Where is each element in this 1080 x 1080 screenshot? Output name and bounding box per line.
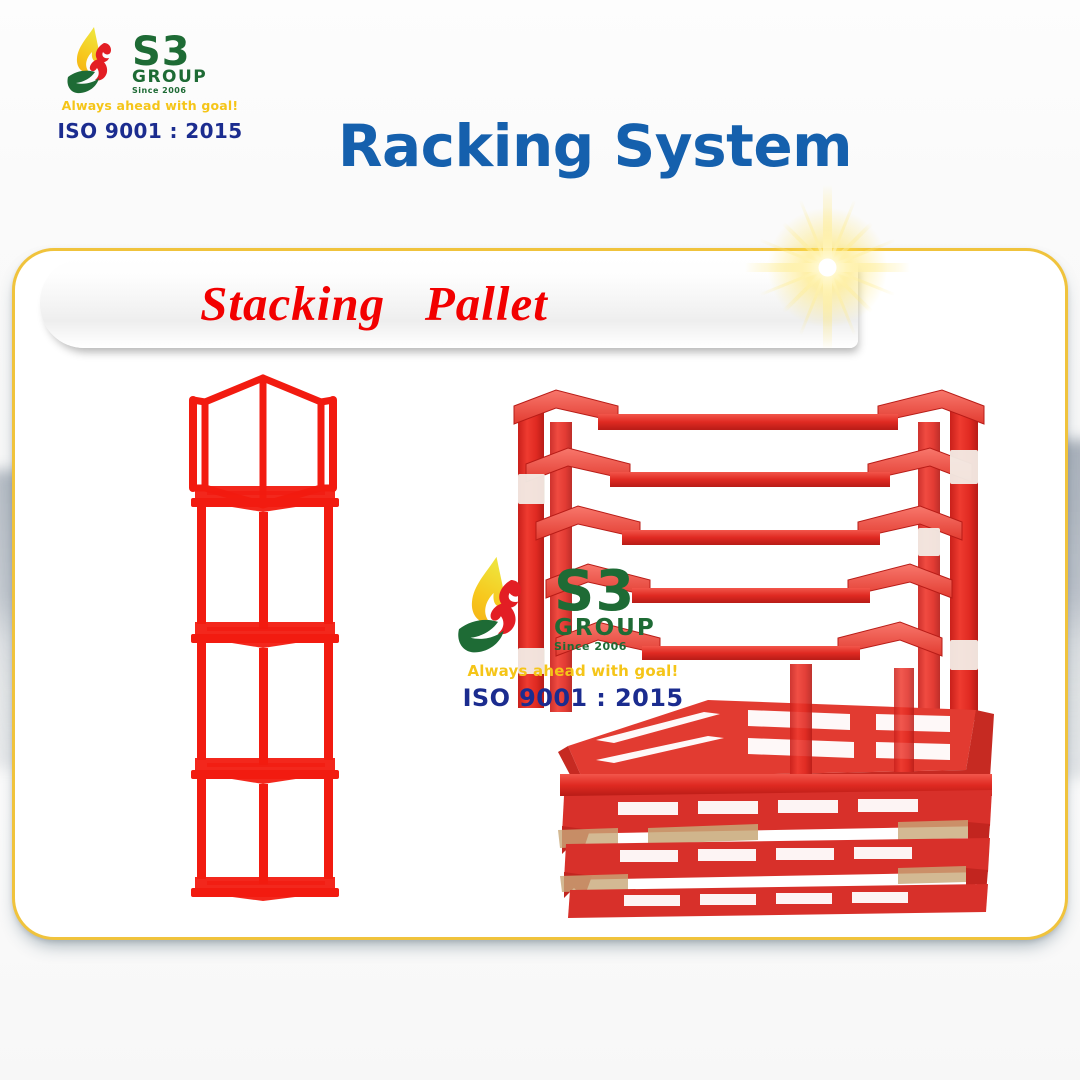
brand-tagline: Always ahead with goal! [50,98,250,113]
s3-flame-logo-icon [64,25,126,97]
brand-name-secondary: GROUP [132,69,207,86]
brand-wordmark: S3 GROUP Since 2006 [132,28,207,95]
brand-logo-block: S3 GROUP Since 2006 Always ahead with go… [50,22,250,143]
section-banner-label: Stacking Pallet [40,275,858,332]
brand-since: Since 2006 [132,87,207,95]
brand-name-primary: S3 [132,32,207,72]
brand-certification: ISO 9001 : 2015 [50,119,250,143]
product-image-tall-rack [185,360,385,905]
section-banner: Stacking Pallet [40,258,858,348]
logo-row: S3 GROUP Since 2006 [50,22,250,100]
product-image-stacked-pallets [498,378,1028,918]
